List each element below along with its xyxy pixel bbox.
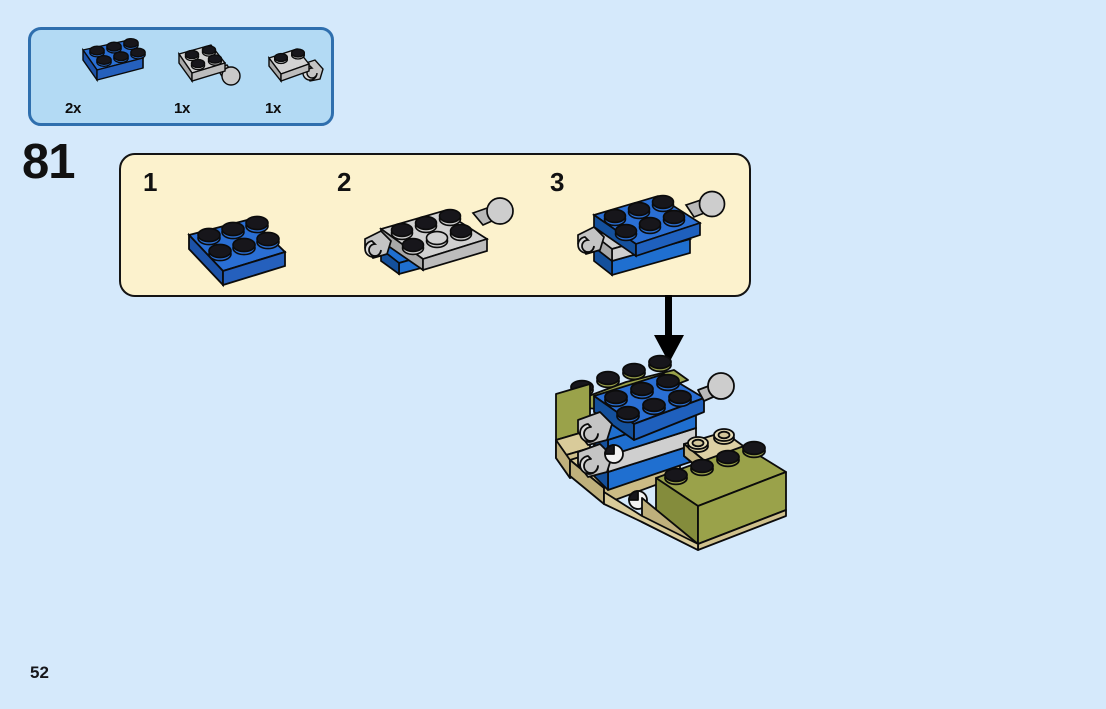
part-count-label: 1x [265, 100, 281, 117]
assembly-gray-plates-on-blue-icon [347, 173, 537, 283]
substep-panel: 1 [119, 153, 751, 297]
substep-1: 1 [137, 155, 337, 295]
lego-plate-2x2-towball-icon [161, 34, 251, 96]
parts-bin: 2x [28, 27, 334, 126]
assembly-blue-plate-on-top-icon [562, 169, 747, 284]
instruction-page: 2x [0, 0, 1106, 709]
part-count-label: 1x [174, 100, 190, 117]
part-slot-2: 1x [161, 30, 247, 123]
substep-3: 3 [544, 155, 749, 295]
assembly-blue-plate-icon [167, 197, 307, 287]
page-number: 52 [30, 663, 49, 683]
part-count-label: 2x [65, 100, 81, 117]
substep-label: 1 [143, 169, 157, 195]
substep-2: 2 [331, 155, 546, 295]
part-slot-3: 1x [253, 30, 331, 123]
part-slot-1: 2x [57, 30, 147, 123]
step-number: 81 [22, 138, 75, 187]
lego-plate-2x3-blue-icon [57, 34, 149, 96]
lego-sub-assembly-icon [548, 348, 808, 548]
lego-plate-1x2-towball-socket-icon [253, 34, 333, 96]
